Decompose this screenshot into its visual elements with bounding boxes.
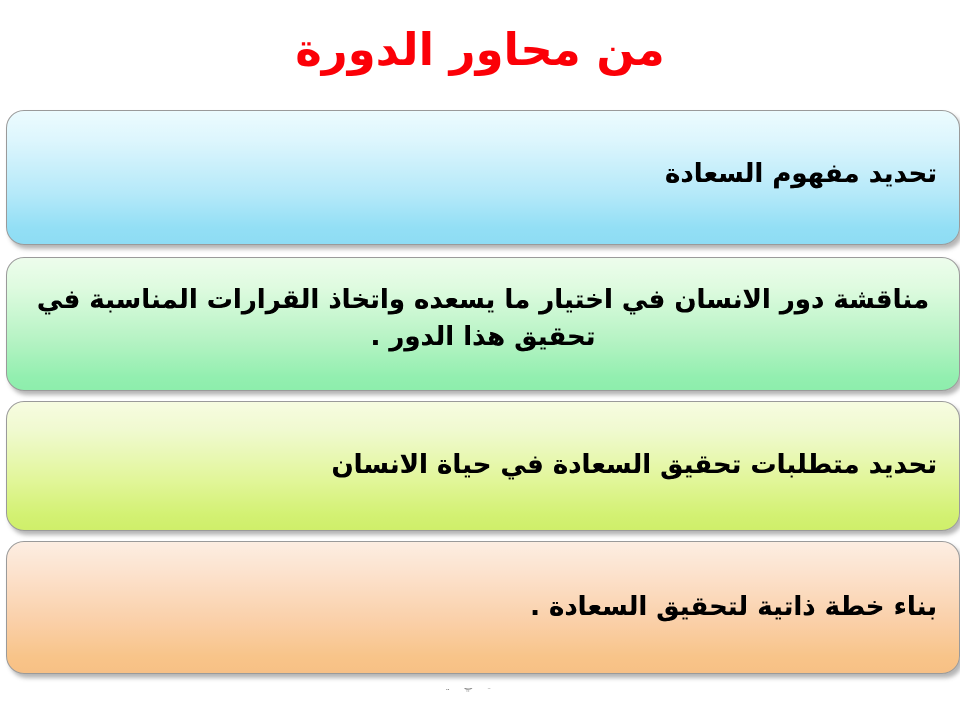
course-axis-label-2: مناقشة دور الانسان في اختيار ما يسعده وا… [7, 282, 959, 366]
course-axis-item-2[interactable]: مناقشة دور الانسان في اختيار ما يسعده وا… [6, 257, 960, 391]
course-axes-list: تحديد مفهوم السعادة مناقشة دور الانسان ف… [0, 110, 960, 674]
course-axis-label-4: بناء خطة ذاتية لتحقيق السعادة . [7, 590, 959, 626]
course-axis-item-4[interactable]: بناء خطة ذاتية لتحقيق السعادة . [6, 541, 960, 674]
course-axis-label-1: تحديد مفهوم السعادة [7, 157, 959, 199]
slide-canvas: من محاور الدورة تحديد مفهوم السعادة مناق… [0, 0, 960, 720]
course-axis-label-3: تحديد متطلبات تحقيق السعادة في حياة الان… [7, 448, 959, 484]
course-axis-item-1[interactable]: تحديد مفهوم السعادة [6, 110, 960, 245]
slide-footer-text: السعادة في حياتنا [0, 688, 960, 692]
slide-footer: ٤ السعادة في حياتنا [0, 688, 960, 720]
page-title: من محاور الدورة [0, 24, 960, 76]
slide-page-number: ٤ [66, 688, 74, 692]
course-axis-item-3[interactable]: تحديد متطلبات تحقيق السعادة في حياة الان… [6, 401, 960, 531]
